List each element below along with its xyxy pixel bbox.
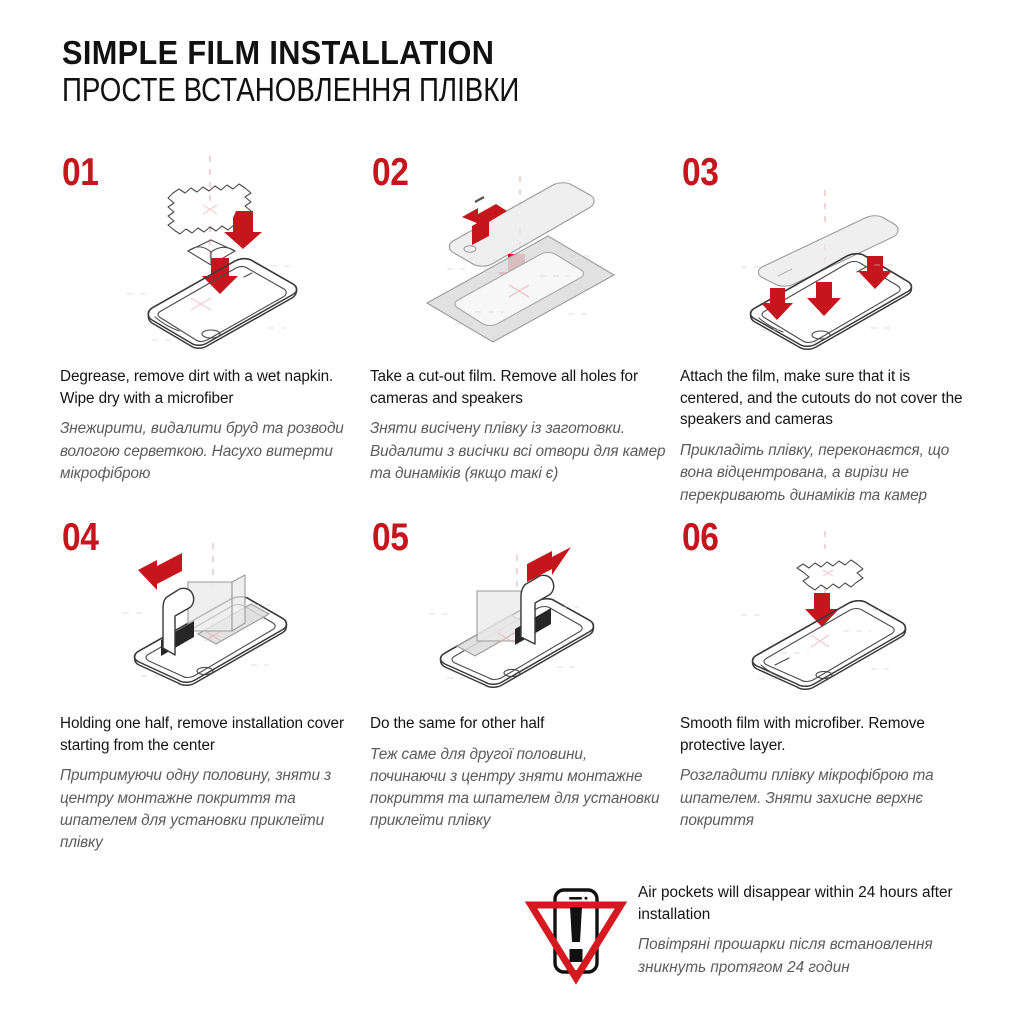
warning-triangle-phone-exclamation-icon [522,878,630,991]
step-text-01: Degrease, remove dirt with a wet napkin.… [60,366,356,485]
down-arrow-icon [224,211,262,249]
step-card-01: 01 [55,148,365,513]
step-illustration-03 [675,148,975,353]
step-text-en: Degrease, remove dirt with a wet napkin.… [60,366,356,409]
step-text-05: Do the same for other half Теж саме для … [370,713,666,832]
step-text-04: Holding one half, remove installation co… [60,713,356,854]
left-arrow-icon [138,553,182,590]
down-arrow-icon [805,593,839,627]
step-card-05: 05 [365,513,675,878]
step-text-06: Smooth film with microfiber. Remove prot… [680,713,976,832]
step-illustration-06 [675,513,975,718]
down-arrow-icon [858,256,892,289]
step-card-04: 04 [55,513,365,878]
warning-note: Air pockets will disappear within 24 hou… [522,876,992,991]
step-text-en: Do the same for other half [370,713,666,735]
microfiber-cloth-shape [797,560,863,590]
step-text-uk: Зняти висічену плівку із заготовки. Вида… [370,418,666,485]
page-header: SIMPLE FILM INSTALLATION ПРОСТЕ ВСТАНОВЛ… [62,36,962,109]
step-illustration-02 [365,148,665,353]
down-arrow-icon [807,282,841,316]
page-title-en: SIMPLE FILM INSTALLATION [62,36,899,71]
down-arrow-icon [761,288,793,320]
step-text-uk: Розгладити плівку мікрофіброю та шпателе… [680,765,976,832]
step-text-en: Attach the film, make sure that it is ce… [680,366,976,431]
step-text-en: Smooth film with microfiber. Remove prot… [680,713,976,756]
step-text-uk: Притримуючи одну половину, зняти з центр… [60,765,356,854]
film-half-shape [188,575,269,644]
step-card-02: 02 [365,148,675,513]
step-text-en: Holding one half, remove installation co… [60,713,356,756]
step-card-06: 06 [675,513,985,878]
step-text-03: Attach the film, make sure that it is ce… [680,366,976,507]
step-text-en: Take a cut-out film. Remove all holes fo… [370,366,666,409]
phone-shape [753,601,906,690]
warning-text-en: Air pockets will disappear within 24 hou… [638,882,990,925]
page-title-uk: ПРОСТЕ ВСТАНОВЛЕННЯ ПЛІВКИ [62,72,818,109]
steps-grid: 01 [0,148,1024,878]
step-card-03: 03 [675,148,985,513]
warning-texts: Air pockets will disappear within 24 hou… [638,876,990,979]
step-text-uk: Прикладіть плівку, переконаєтся, що вона… [680,440,976,507]
step-text-uk: Знежирити, видалити бруд та розводи воло… [60,418,356,485]
step-illustration-05 [365,513,665,718]
warning-text-uk: Повітряні прошарки після встановлення зн… [638,934,990,978]
step-text-02: Take a cut-out film. Remove all holes fo… [370,366,666,485]
step-illustration-01 [55,148,355,353]
step-illustration-04 [55,513,355,718]
step-text-uk: Теж саме для другої половини, починаючи … [370,744,666,833]
